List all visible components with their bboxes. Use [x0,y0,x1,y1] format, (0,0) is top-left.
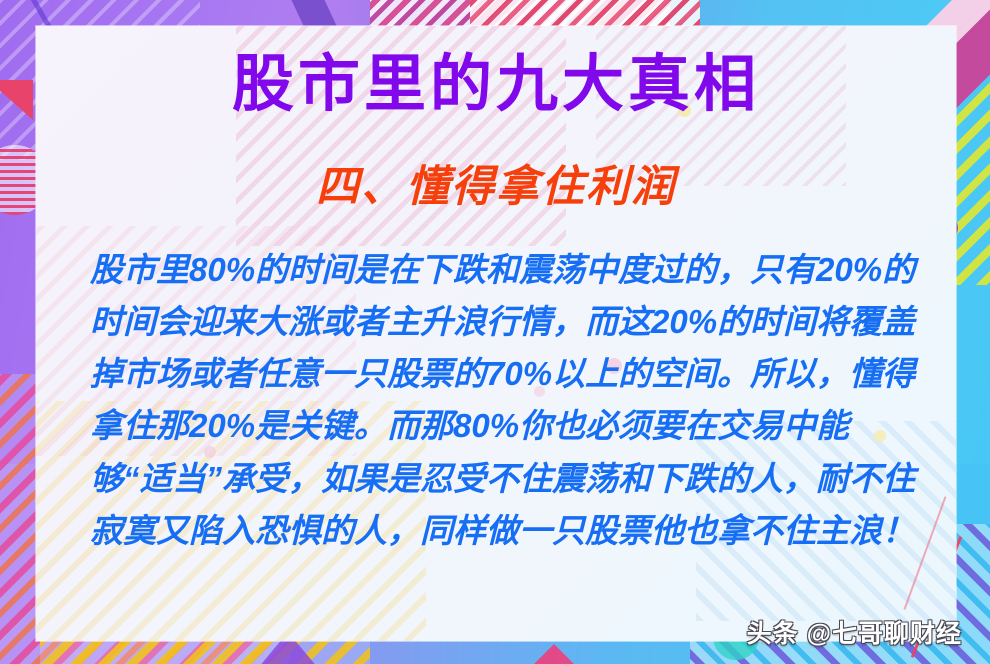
section-subtitle: 四、懂得拿住利润 [36,166,956,209]
decorative-triangle-red [0,80,33,120]
content-card: 股市里的九大真相 四、懂得拿住利润 股市里80%的时间是在下跌和震荡中度过的，只… [36,26,956,641]
page-title: 股市里的九大真相 [36,54,956,116]
decorative-triangle-pink-bottom [528,644,580,664]
body-paragraph: 股市里80%的时间是在下跌和震荡中度过的，只有20%的时间会迎来大涨或者主升浪行… [90,244,918,557]
watermark-credit: 头条 @七哥聊财经 [747,614,962,650]
poster-canvas: 股市里的九大真相 四、懂得拿住利润 股市里80%的时间是在下跌和震荡中度过的，只… [0,0,990,664]
